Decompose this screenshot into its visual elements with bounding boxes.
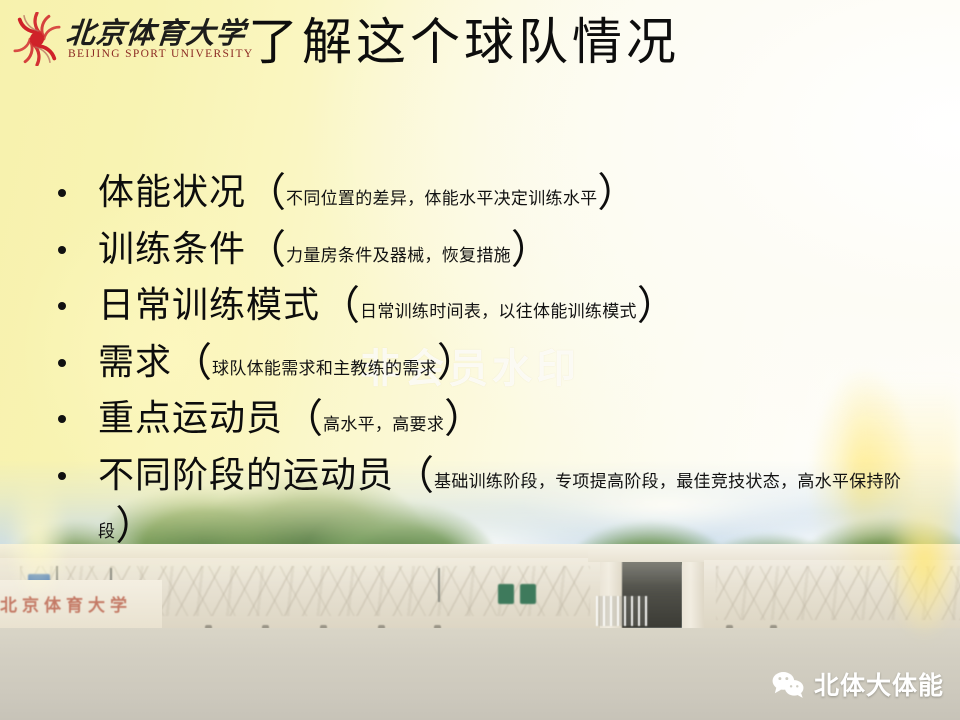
bullet-dot-icon	[58, 472, 66, 480]
list-item-paren-close: ）	[511, 227, 551, 272]
wechat-account-badge[interactable]: 北体大体能	[771, 666, 944, 702]
wechat-account-name: 北体大体能	[814, 666, 944, 702]
list-item-title: 体能状况	[98, 172, 246, 212]
list-item-title: 不同阶段的运动员	[98, 455, 394, 495]
list-item-paren-close: ）	[637, 283, 677, 328]
list-item-body: 日常训练模式（日常训练时间表，以往体能训练模式）	[44, 281, 930, 331]
presentation-slide: 北京体育大学	[0, 0, 960, 720]
list-item-title: 重点运动员	[98, 398, 283, 438]
list-item-paren-close: ）	[437, 340, 477, 385]
list-item: 体能状况（不同位置的差异，体能水平决定训练水平）	[44, 168, 930, 218]
list-item-detail: 力量房条件及器械，恢复措施	[286, 246, 511, 265]
list-item-body: 不同阶段的运动员（基础训练阶段，专项提高阶段，最佳竞技状态，高水平保持阶段）	[44, 451, 930, 550]
photo-road-sign	[520, 584, 536, 604]
list-item-paren-close: ）	[444, 396, 484, 441]
photo-lamp-post	[438, 568, 440, 602]
wechat-icon	[771, 670, 805, 698]
list-item-detail: 日常训练时间表，以往体能训练模式	[360, 302, 637, 321]
list-item-detail: 不同位置的差异，体能水平决定训练水平	[286, 189, 597, 208]
list-item: 不同阶段的运动员（基础训练阶段，专项提高阶段，最佳竞技状态，高水平保持阶段）	[44, 451, 930, 550]
list-item-paren-open: （	[394, 453, 434, 498]
logo-chinese-name: 北京体育大学	[64, 10, 248, 52]
list-item-paren-open: （	[320, 283, 360, 328]
photo-gate-fence	[596, 596, 648, 626]
list-item-paren-open: （	[246, 170, 286, 215]
list-item-paren-open: （	[172, 340, 212, 385]
list-item-title: 训练条件	[98, 229, 246, 269]
list-item-body: 重点运动员（高水平，高要求）	[44, 394, 930, 444]
list-item: 训练条件（力量房条件及器械，恢复措施）	[44, 225, 930, 275]
logo-english-name: BEIJING SPORT UNIVERSITY	[68, 48, 253, 60]
list-item-body: 需求（球队体能需求和主教练的需求）	[44, 338, 930, 388]
list-item-body: 训练条件（力量房条件及器械，恢复措施）	[44, 225, 930, 275]
list-item-paren-close: ）	[115, 503, 155, 548]
bullet-dot-icon	[58, 189, 66, 197]
list-item: 需求（球队体能需求和主教练的需求）	[44, 338, 930, 388]
bullet-list: 体能状况（不同位置的差异，体能水平决定训练水平） 训练条件（力量房条件及器械，恢…	[44, 168, 930, 557]
list-item-paren-open: （	[246, 227, 286, 272]
list-item-body: 体能状况（不同位置的差异，体能水平决定训练水平）	[44, 168, 930, 218]
list-item-paren-open: （	[283, 396, 323, 441]
list-item-title: 需求	[98, 342, 172, 382]
university-logo: 北京体育大学 BEIJING SPORT UNIVERSITY	[4, 6, 236, 72]
list-item-detail: 高水平，高要求	[323, 415, 444, 434]
list-item: 重点运动员（高水平，高要求）	[44, 394, 930, 444]
photo-road-sign	[498, 584, 514, 604]
bullet-dot-icon	[58, 359, 66, 367]
bullet-dot-icon	[58, 246, 66, 254]
list-item-paren-close: ）	[597, 170, 637, 215]
page-title: 了解这个球队情况	[248, 12, 680, 72]
beijing-sport-university-swirl-icon	[10, 12, 64, 66]
list-item-title: 日常训练模式	[98, 285, 320, 325]
list-item: 日常训练模式（日常训练时间表，以往体能训练模式）	[44, 281, 930, 331]
list-item-detail: 球队体能需求和主教练的需求	[212, 359, 437, 378]
